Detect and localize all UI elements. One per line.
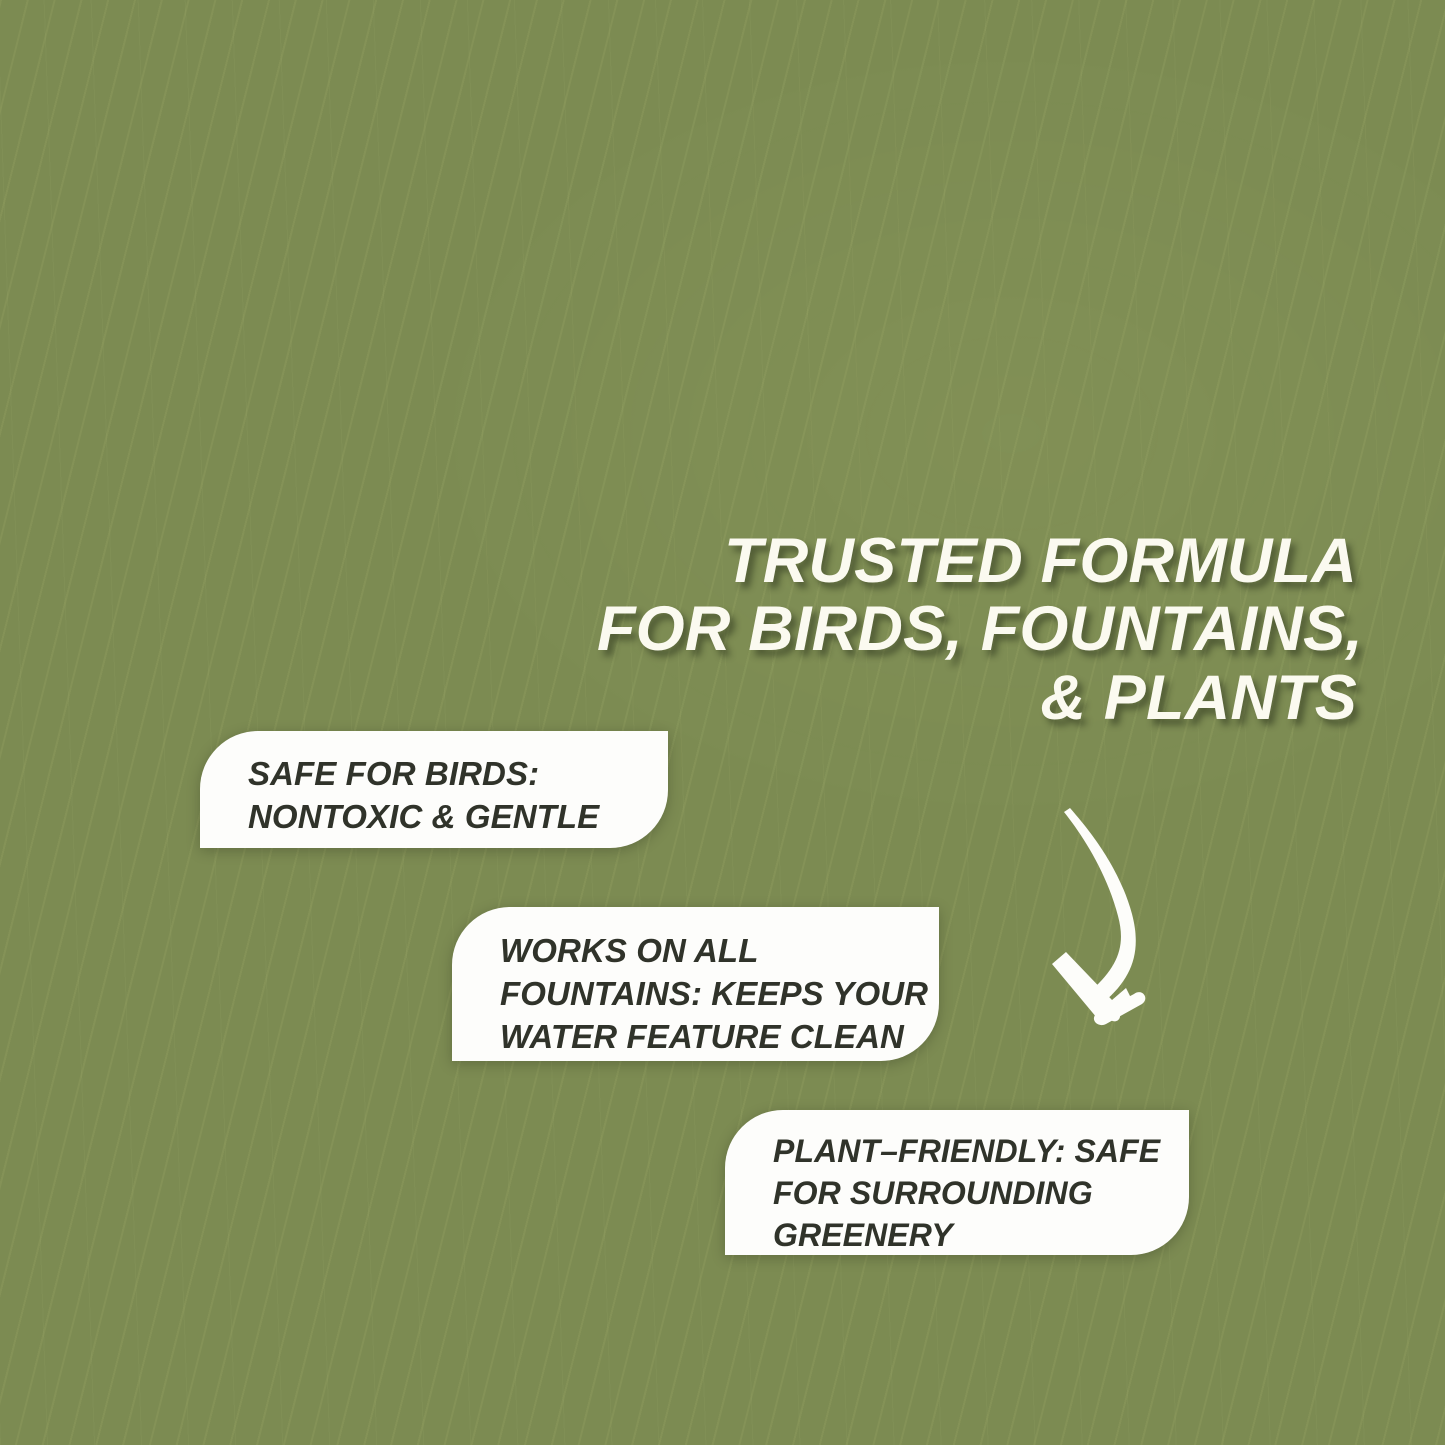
- headline-line-3: & PLANTS: [597, 664, 1357, 732]
- callout-line: NONTOXIC & GENTLE: [248, 796, 668, 839]
- callout-line: GREENERY: [773, 1214, 1189, 1256]
- callout-works-on-all-fountains: WORKS ON ALL FOUNTAINS: KEEPS YOUR WATER…: [452, 907, 939, 1061]
- curved-down-arrow-icon: [1026, 766, 1256, 1036]
- callout-safe-for-birds: SAFE FOR BIRDS: NONTOXIC & GENTLE: [200, 731, 668, 848]
- headline-line-2: FOR BIRDS, FOUNTAINS,: [597, 595, 1357, 663]
- callout-line: FOR SURROUNDING: [773, 1172, 1189, 1214]
- callout-line: FOUNTAINS: KEEPS YOUR: [500, 972, 939, 1015]
- headline-line-1: TRUSTED FORMULA: [597, 527, 1357, 595]
- page-title: TRUSTED FORMULA FOR BIRDS, FOUNTAINS, & …: [597, 527, 1357, 732]
- callout-line: PLANT–FRIENDLY: SAFE: [773, 1130, 1189, 1172]
- callout-line: WATER FEATURE CLEAN: [500, 1015, 939, 1058]
- callout-line: WORKS ON ALL: [500, 929, 939, 972]
- callout-plant-friendly: PLANT–FRIENDLY: SAFE FOR SURROUNDING GRE…: [725, 1110, 1189, 1255]
- promo-image: TRUSTED FORMULA FOR BIRDS, FOUNTAINS, & …: [0, 0, 1445, 1445]
- callout-line: SAFE FOR BIRDS:: [248, 753, 668, 796]
